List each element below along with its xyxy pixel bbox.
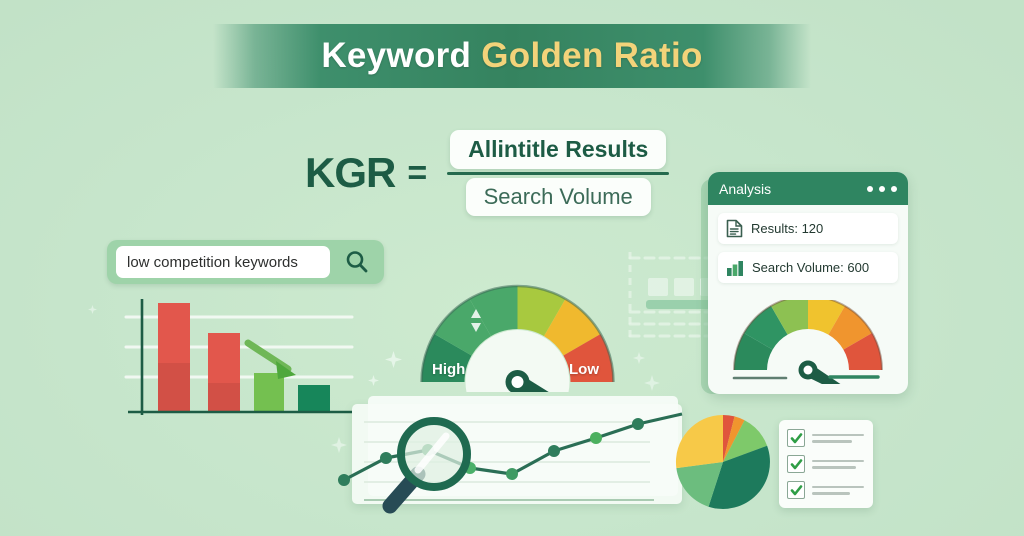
title-banner: Keyword Golden Ratio <box>213 24 811 88</box>
window-dot-icon[interactable] <box>879 186 885 192</box>
search-input[interactable]: low competition keywords <box>116 246 330 278</box>
bar-2-lower <box>208 383 240 412</box>
competition-bar-chart <box>120 295 360 420</box>
text-line <box>812 434 864 437</box>
sparkle-icon <box>368 375 379 386</box>
analysis-panel-body: Results: 120 Search Volume: 600 <box>708 205 908 283</box>
formula-equals: = <box>407 154 427 193</box>
search-icon <box>344 249 370 275</box>
bar-4 <box>298 385 330 412</box>
analysis-row-search-volume-text: Search Volume: 600 <box>752 260 869 275</box>
checklist-item[interactable] <box>787 455 865 473</box>
keyword-distribution-pie <box>674 413 772 511</box>
window-dot-icon[interactable] <box>867 186 873 192</box>
analysis-row-results-text: Results: 120 <box>751 221 823 236</box>
bar-3 <box>254 373 284 412</box>
check-icon <box>790 432 803 445</box>
sparkle-icon <box>644 375 660 391</box>
analysis-panel: Analysis Results: 120 <box>708 172 908 394</box>
title-part-golden-ratio: Golden Ratio <box>471 36 702 75</box>
competition-gauge: High Low <box>410 282 625 392</box>
analysis-row-results[interactable]: Results: 120 <box>718 213 898 244</box>
text-line <box>812 460 864 463</box>
search-button[interactable] <box>330 240 384 284</box>
formula-fraction: Allintitle Results Search Volume <box>447 130 669 216</box>
formula-denominator-box: Search Volume <box>466 178 651 216</box>
formula-numerator-box: Allintitle Results <box>450 130 666 169</box>
ranking-trend-line-chart <box>330 396 690 516</box>
fraction-bar <box>447 172 669 175</box>
sparkle-icon <box>88 305 97 314</box>
bar-1-lower <box>158 363 190 412</box>
text-line <box>812 492 850 495</box>
formula-denominator: Search Volume <box>484 184 633 210</box>
checklist-item-lines <box>812 460 864 469</box>
analysis-gauge <box>726 300 890 384</box>
analysis-panel-header: Analysis <box>708 172 908 205</box>
document-icon <box>726 219 743 238</box>
analysis-panel-title: Analysis <box>719 181 771 197</box>
title-part-keyword: Keyword <box>321 36 471 75</box>
formula-numerator: Allintitle Results <box>468 136 648 163</box>
window-dot-icon[interactable] <box>891 186 897 192</box>
checklist-item-lines <box>812 486 864 495</box>
text-line <box>812 440 852 443</box>
check-icon <box>790 458 803 471</box>
bar-chart-icon <box>726 259 744 277</box>
infographic-canvas: Keyword Golden Ratio KGR = Allintitle Re… <box>0 0 1024 536</box>
checklist-card <box>779 420 873 508</box>
check-icon <box>790 484 803 497</box>
text-line <box>812 466 856 469</box>
checklist-item[interactable] <box>787 481 865 499</box>
search-bar[interactable]: low competition keywords <box>107 240 384 284</box>
checkbox-checked[interactable] <box>787 429 805 447</box>
analysis-row-search-volume[interactable]: Search Volume: 600 <box>718 252 898 283</box>
checklist-item-lines <box>812 434 864 443</box>
magnifier-icon <box>390 421 467 506</box>
kgr-formula: KGR = Allintitle Results Search Volume <box>305 130 669 216</box>
checkbox-checked[interactable] <box>787 455 805 473</box>
page-title: Keyword Golden Ratio <box>321 36 702 76</box>
window-controls[interactable] <box>867 186 897 192</box>
gauge-label-low: Low <box>569 361 599 378</box>
formula-lhs: KGR <box>305 149 395 197</box>
sparkle-icon <box>385 351 402 368</box>
checklist-item[interactable] <box>787 429 865 447</box>
checkbox-checked[interactable] <box>787 481 805 499</box>
gauge-label-high: High <box>432 361 465 378</box>
pie-slice-c <box>676 415 723 468</box>
data-points <box>338 418 644 486</box>
text-line <box>812 486 864 489</box>
